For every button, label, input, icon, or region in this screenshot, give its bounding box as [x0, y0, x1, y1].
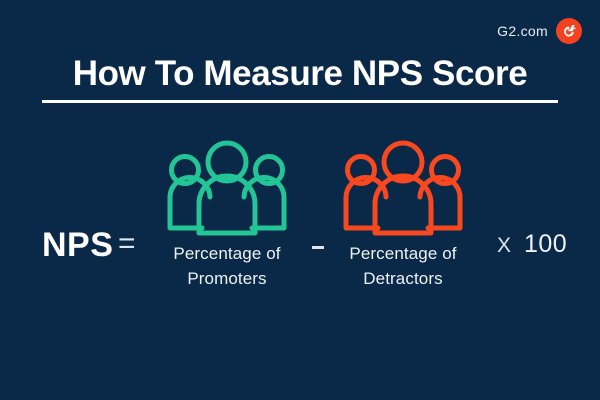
times-symbol: X: [497, 235, 511, 256]
people-group-icon: [163, 140, 291, 236]
nps-formula: NPS =: [0, 140, 600, 310]
g2-logo-icon: [556, 18, 582, 44]
multiplier-value: 100: [524, 232, 567, 257]
caption-line-1: Percentage of: [349, 242, 456, 267]
brand-logo[interactable]: G2.com: [497, 18, 582, 44]
term-caption-promoters: Percentage of Promoters: [173, 242, 280, 291]
nps-result-label: NPS: [42, 228, 113, 262]
equals-symbol: =: [118, 229, 136, 259]
infographic-canvas: G2.com How To Measure NPS Score NPS =: [0, 0, 600, 400]
term-promoters: Percentage of Promoters: [137, 140, 317, 291]
title-underline: [42, 100, 558, 103]
term-caption-detractors: Percentage of Detractors: [349, 242, 456, 291]
brand-name: G2.com: [497, 24, 548, 38]
caption-line-2: Detractors: [349, 267, 456, 292]
people-group-icon: [339, 140, 467, 236]
page-title: How To Measure NPS Score: [0, 55, 600, 94]
term-detractors: Percentage of Detractors: [313, 140, 493, 291]
caption-line-1: Percentage of: [173, 242, 280, 267]
caption-line-2: Promoters: [173, 267, 280, 292]
